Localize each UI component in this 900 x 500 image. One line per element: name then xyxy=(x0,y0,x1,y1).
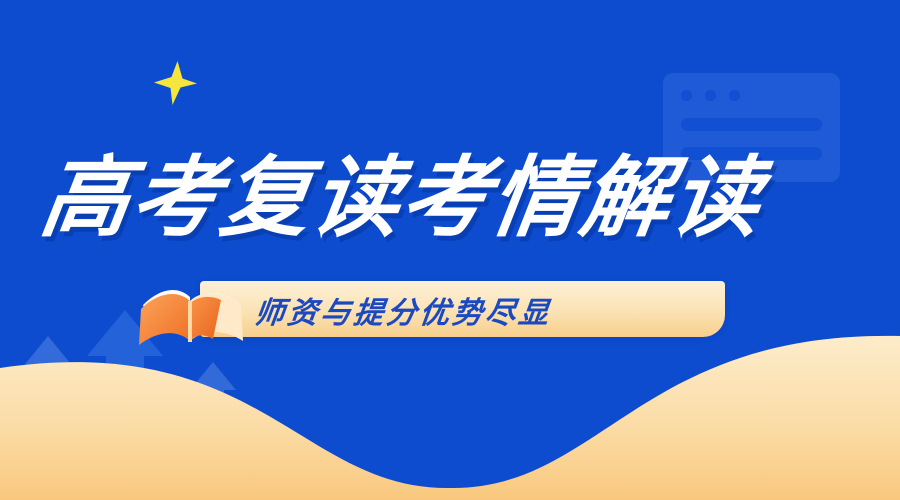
open-book-icon xyxy=(133,279,247,351)
bottom-wave-shape xyxy=(0,330,900,500)
card-dot xyxy=(705,90,716,101)
card-dot xyxy=(681,90,692,101)
card-dots-group xyxy=(681,90,740,101)
banner-title-text: 高考复读考情解读 xyxy=(36,154,768,242)
card-dot xyxy=(729,90,740,101)
banner-title: 高考复读考情解读 xyxy=(42,143,862,253)
four-point-star-icon xyxy=(152,60,198,106)
promo-banner: 高考复读考情解读 师资与提 xyxy=(0,0,900,500)
card-line xyxy=(681,118,822,131)
banner-subtitle: 师资与提分优势尽显 xyxy=(252,288,697,332)
